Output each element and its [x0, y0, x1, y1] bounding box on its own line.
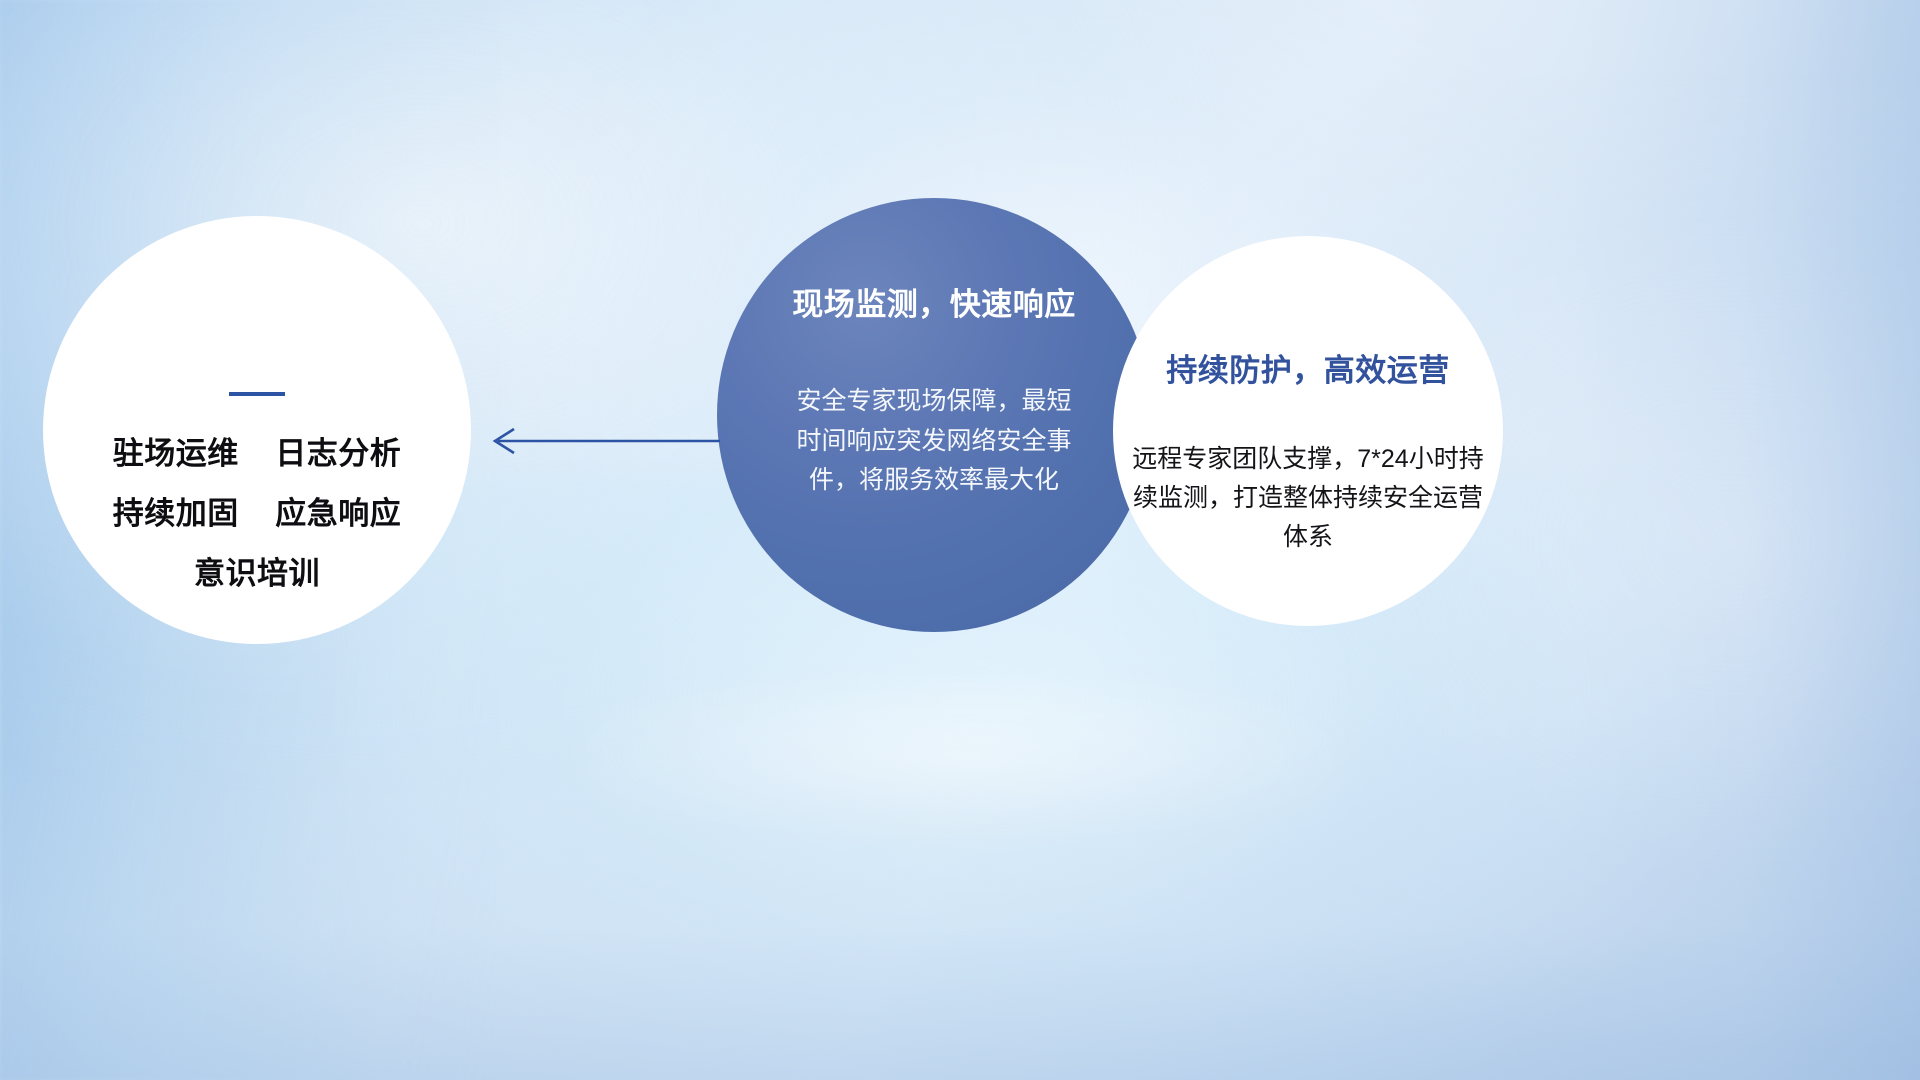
flow-arrow-left: [480, 418, 720, 464]
right-circle-body: 远程专家团队支撑，7*24小时持续监测，打造整体持续安全运营体系: [1132, 440, 1484, 557]
left-keyword-line-1: 驻场运维 日志分析: [113, 438, 401, 469]
background-tint-right: [1574, 0, 1920, 1080]
middle-service-circle[interactable]: 现场监测，快速响应 安全专家现场保障，最短时间响应突发网络安全事件，将服务效率最…: [717, 198, 1151, 632]
middle-circle-body: 安全专家现场保障，最短时间响应突发网络安全事件，将服务效率最大化: [789, 382, 1079, 501]
middle-circle-title: 现场监测，快速响应: [792, 288, 1076, 322]
right-service-circle[interactable]: 持续防护，高效运营 远程专家团队支撑，7*24小时持续监测，打造整体持续安全运营…: [1113, 236, 1503, 626]
arrow-svg: [480, 418, 720, 464]
left-keyword-line-2: 持续加固 应急响应: [113, 498, 401, 529]
middle-circle-content: 现场监测，快速响应 安全专家现场保障，最短时间响应突发网络安全事件，将服务效率最…: [717, 198, 1151, 632]
left-circle-content: 驻场运维 日志分析 持续加固 应急响应 意识培训: [43, 216, 471, 644]
left-keyword-line-3: 意识培训: [194, 558, 320, 589]
left-keyword-circle[interactable]: 驻场运维 日志分析 持续加固 应急响应 意识培训: [43, 216, 471, 644]
right-circle-content: 持续防护，高效运营 远程专家团队支撑，7*24小时持续监测，打造整体持续安全运营…: [1113, 236, 1503, 626]
left-divider-dash: [229, 392, 285, 396]
right-circle-title: 持续防护，高效运营: [1166, 354, 1450, 388]
slide-canvas: 驻场运维 日志分析 持续加固 应急响应 意识培训 现场监测，快速响应 安全专家现…: [0, 0, 1920, 1080]
